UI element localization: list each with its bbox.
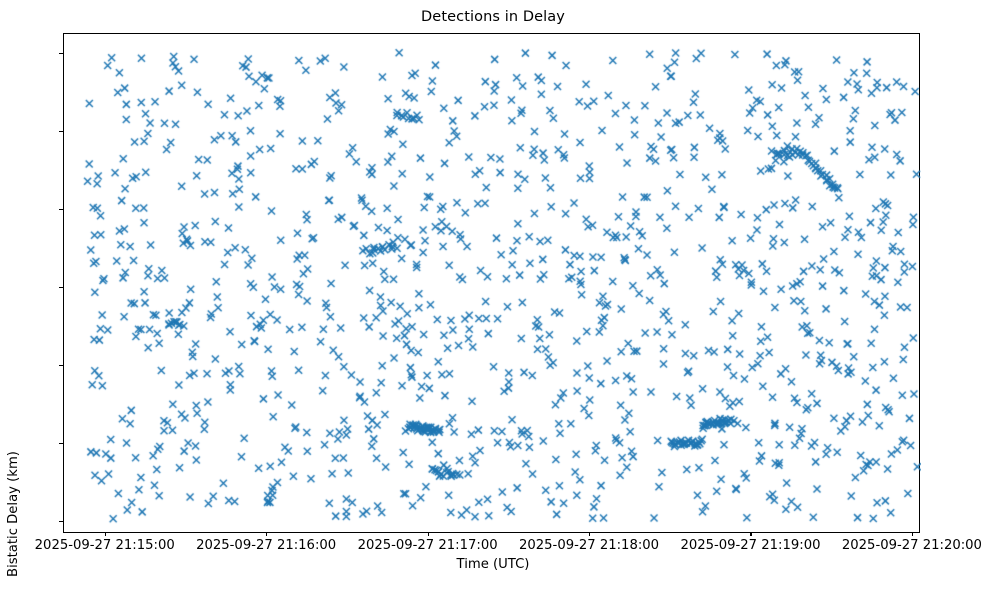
matplotlib-figure: Detections in Delay 0102030405060 2025-0… [0,0,986,590]
plot-axes [63,33,920,533]
scatter-plot-canvas [64,34,921,534]
y-tick-mark [59,365,63,366]
x-tick-label: 2025-09-27 21:16:00 [196,539,336,552]
x-tick-mark [266,532,267,536]
x-tick-label: 2025-09-27 21:18:00 [519,539,659,552]
y-tick-mark [59,443,63,444]
y-axis-label: Bistatic Delay (km) [6,264,21,590]
x-tick-label: 2025-09-27 21:20:00 [842,539,982,552]
x-tick-mark [912,532,913,536]
x-axis-label: Time (UTC) [0,557,986,572]
x-tick-mark [750,532,751,536]
page-title: Detections in Delay [0,9,986,25]
y-tick-mark [59,521,63,522]
y-tick-mark [59,287,63,288]
x-tick-label: 2025-09-27 21:15:00 [35,539,175,552]
x-tick-label: 2025-09-27 21:17:00 [358,539,498,552]
x-tick-mark [428,532,429,536]
x-tick-mark [589,532,590,536]
y-tick-mark [59,131,63,132]
x-tick-label: 2025-09-27 21:19:00 [680,539,820,552]
x-tick-mark [105,532,106,536]
y-tick-mark [59,209,63,210]
y-tick-mark [59,53,63,54]
